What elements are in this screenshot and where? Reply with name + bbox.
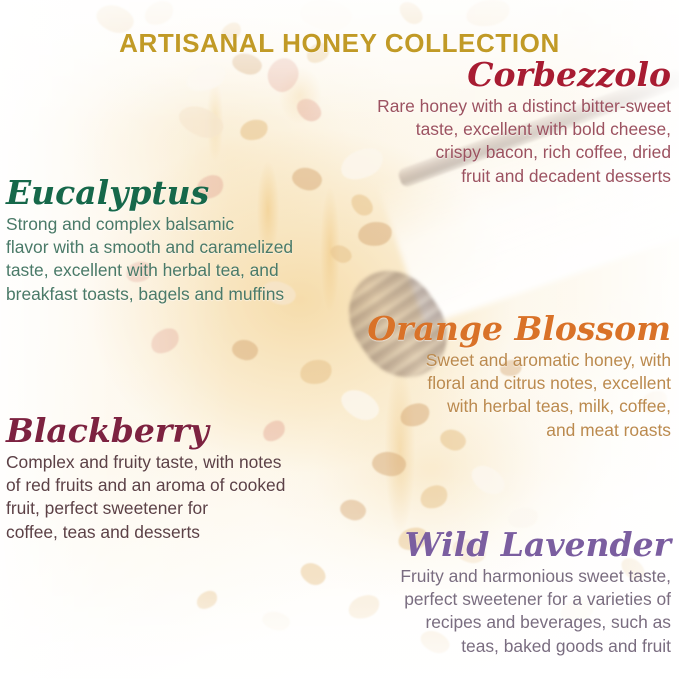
variety-orange-blossom: Orange Blossom Sweet and aromatic honey,… (329, 312, 671, 442)
variety-description-eucalyptus: Strong and complex balsamic flavor with … (6, 213, 358, 307)
variety-eucalyptus: Eucalyptus Strong and complex balsamic f… (6, 176, 358, 306)
variety-wild-lavender: Wild Lavender Fruity and harmonious swee… (324, 528, 671, 658)
variety-description-orange-blossom: Sweet and aromatic honey, with floral an… (329, 349, 671, 443)
variety-blackberry: Blackberry Complex and fruity taste, wit… (6, 414, 356, 544)
variety-description-blackberry: Complex and fruity taste, with notes of … (6, 451, 356, 545)
variety-corbezzolo: Corbezzolo Rare honey with a distinct bi… (305, 58, 671, 188)
variety-name-wild-lavender: Wild Lavender (324, 528, 671, 563)
variety-description-wild-lavender: Fruity and harmonious sweet taste, perfe… (324, 565, 671, 659)
variety-name-orange-blossom: Orange Blossom (329, 312, 671, 347)
variety-description-corbezzolo: Rare honey with a distinct bitter-sweet … (305, 95, 671, 189)
variety-name-blackberry: Blackberry (6, 414, 356, 449)
poster-content: ARTISANAL HONEY COLLECTION Corbezzolo Ra… (0, 0, 679, 679)
variety-name-corbezzolo: Corbezzolo (305, 58, 671, 93)
variety-name-eucalyptus: Eucalyptus (6, 176, 358, 211)
honey-collection-poster: ARTISANAL HONEY COLLECTION Corbezzolo Ra… (0, 0, 679, 679)
